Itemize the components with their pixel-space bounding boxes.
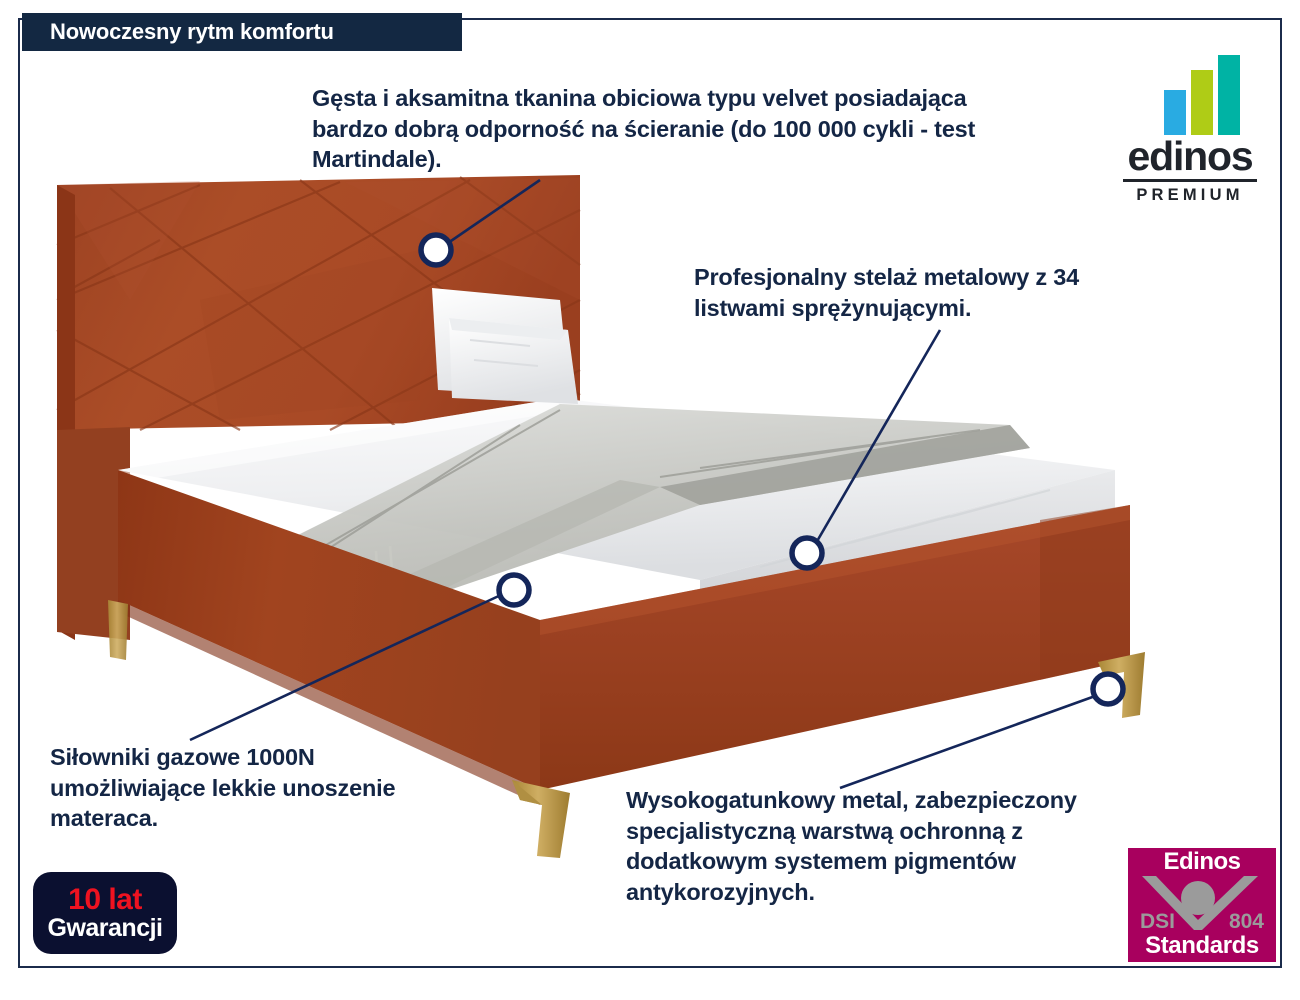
warranty-years: 10 lat (68, 885, 142, 915)
annotation-fabric: Gęsta i aksamitna tkanina obiciowa typu … (312, 83, 1012, 175)
dsi-code-right: 804 (1229, 910, 1264, 934)
callout-dot-fabric (421, 235, 451, 265)
annotation-metal-frame: Profesjonalny stelaż metalowy z 34 listw… (694, 262, 1164, 323)
callout-dot-metal (1093, 674, 1123, 704)
callout-dot-frame (792, 538, 822, 568)
infographic-canvas: Nowoczesny rytm komfortu Gęsta i aksamit… (0, 0, 1300, 1000)
dsi-code-row: DSI 804 (1128, 910, 1276, 934)
callout-dot-gas (499, 575, 529, 605)
title-banner: Nowoczesny rytm komfortu (22, 13, 462, 51)
logo-subtitle: PREMIUM (1110, 186, 1270, 205)
page-title: Nowoczesny rytm komfortu (22, 19, 334, 45)
dsi-code-left: DSI (1140, 910, 1175, 934)
logo-bar-green (1191, 70, 1213, 135)
dsi-label: Standards (1128, 932, 1276, 960)
leader-line-metal (840, 695, 1098, 788)
warranty-badge: 10 lat Gwarancji (33, 872, 177, 954)
annotation-gas-lifters: Siłowniki gazowe 1000N umożliwiające lek… (50, 742, 450, 834)
logo-bars-icon (1140, 55, 1240, 135)
leader-line-fabric (448, 180, 540, 243)
leader-line-frame (816, 330, 940, 543)
logo-bar-blue (1164, 90, 1186, 135)
dsi-brand: Edinos (1128, 848, 1276, 874)
edinos-premium-logo: edinos PREMIUM (1110, 55, 1270, 210)
logo-divider (1123, 179, 1257, 182)
leader-line-gas (190, 594, 503, 740)
warranty-label: Gwarancji (48, 915, 163, 941)
dsi-standards-badge: Edinos DSI 804 Standards (1128, 848, 1276, 962)
logo-wordmark: edinos (1110, 137, 1270, 176)
annotation-metal-quality: Wysokogatunkowy metal, zabezpieczony spe… (626, 785, 1116, 907)
logo-bar-teal (1218, 55, 1240, 135)
